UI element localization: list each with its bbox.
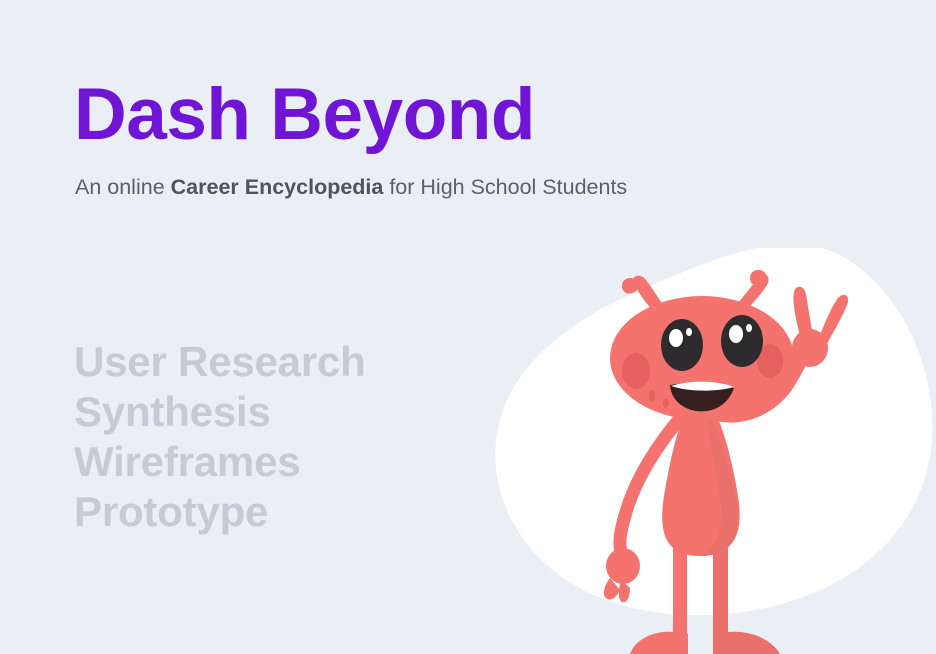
list-item: Prototype	[74, 487, 366, 537]
list-item: Wireframes	[74, 437, 366, 487]
list-item: Synthesis	[74, 387, 366, 437]
deliverables-list: User Research Synthesis Wireframes Proto…	[74, 337, 366, 537]
page-subtitle: An online Career Encyclopedia for High S…	[75, 172, 627, 202]
list-item: User Research	[74, 337, 366, 387]
page-title: Dash Beyond	[74, 72, 535, 158]
slide-canvas: Dash Beyond An online Career Encyclopedi…	[0, 0, 936, 654]
subtitle-emphasis: Career Encyclopedia	[171, 175, 384, 199]
subtitle-suffix: for High School Students	[383, 175, 627, 199]
text-content: Dash Beyond An online Career Encyclopedi…	[0, 0, 936, 654]
subtitle-prefix: An online	[75, 175, 171, 199]
